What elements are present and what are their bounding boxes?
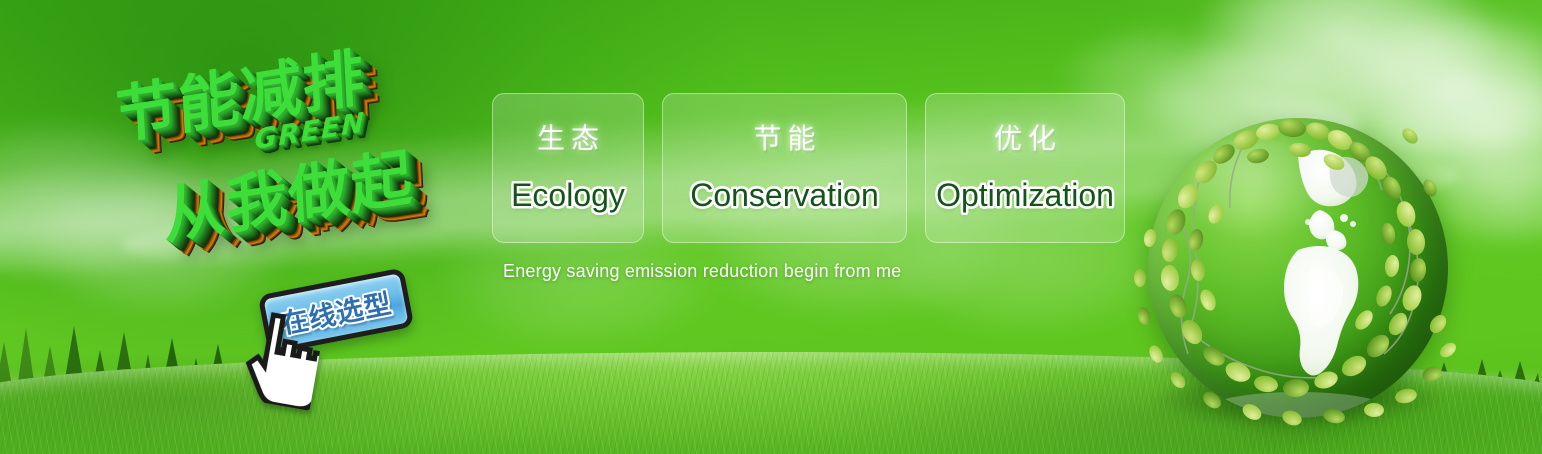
feature-card-conservation-en: Conservation [690,179,879,211]
tagline: Energy saving emission reduction begin f… [503,261,901,282]
headline-3d-block-text: 节能减排 GREEN 从我做起 [104,38,484,263]
headline-line-2: 从我做起 [161,126,415,256]
feature-card-optimization[interactable]: 优化 Optimization [925,93,1125,243]
feature-card-conservation-cn: 节能 [747,125,821,153]
feature-card-conservation[interactable]: 节能 Conservation [662,93,907,243]
feature-card-optimization-cn: 优化 [988,125,1062,153]
feature-card-ecology-en: Ecology [511,179,625,211]
feature-card-optimization-en: Optimization [936,179,1114,211]
globe-leaf-vines [1148,118,1448,418]
feature-cards: 生态 Ecology 节能 Conservation 优化 Optimizati… [492,93,1125,243]
feature-card-ecology[interactable]: 生态 Ecology [492,93,644,243]
leafy-earth-globe [1148,118,1448,418]
hand-pointer-icon [237,307,326,410]
feature-card-ecology-cn: 生态 [531,125,605,153]
green-energy-saving-banner: 节能减排 GREEN 从我做起 在线选型 生态 Ecology 节能 Conse… [0,0,1542,454]
